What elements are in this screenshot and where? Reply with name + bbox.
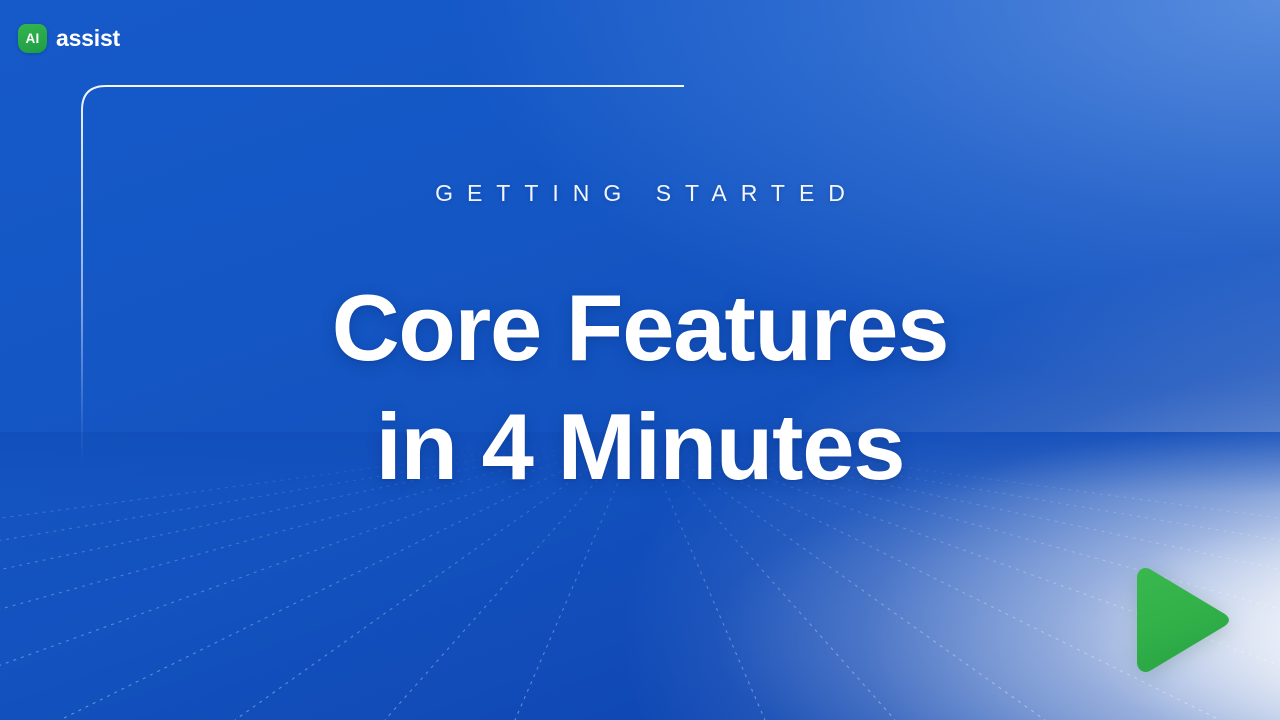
ai-shield-icon: AI bbox=[18, 24, 47, 53]
page-title: Core Features in 4 Minutes bbox=[0, 268, 1280, 507]
eyebrow-label: GETTING STARTED bbox=[0, 182, 1280, 205]
play-button[interactable] bbox=[1128, 565, 1234, 675]
headline-line-1: Core Features bbox=[0, 268, 1280, 387]
logo-wordmark: assist bbox=[56, 27, 120, 50]
headline-line-2: in 4 Minutes bbox=[0, 387, 1280, 506]
video-title-slide: AI assist GETTING STARTED Core Features … bbox=[0, 0, 1280, 720]
brand-logo[interactable]: AI assist bbox=[18, 24, 120, 53]
logo-badge-text: AI bbox=[26, 32, 40, 46]
